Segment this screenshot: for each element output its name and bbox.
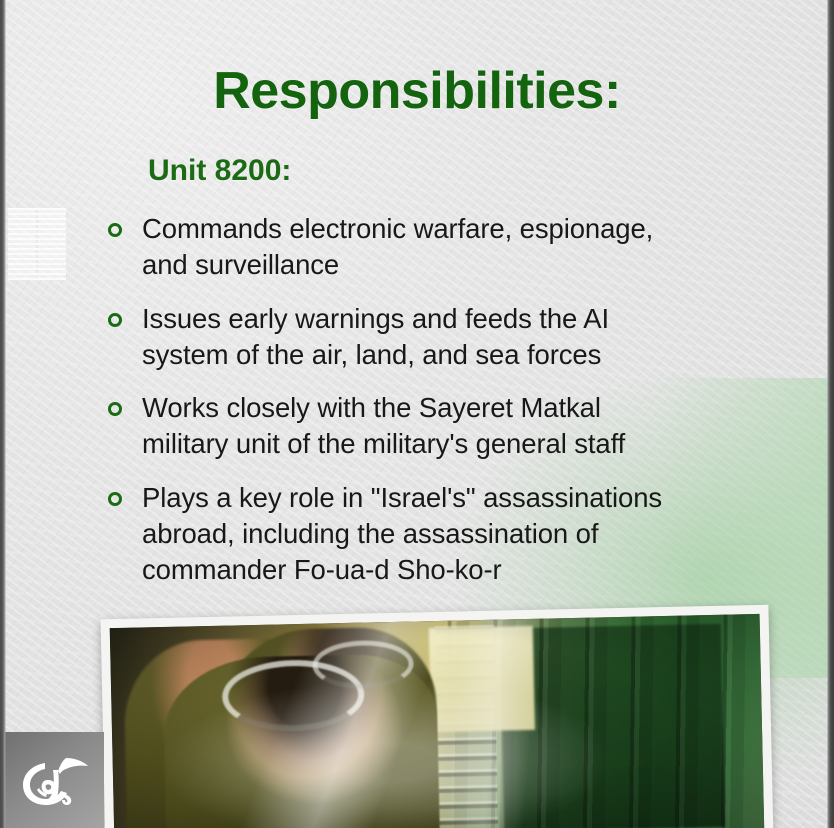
right-edge-strip <box>827 0 834 828</box>
list-item-label: Issues early warnings and feeds the AI s… <box>142 301 798 374</box>
control-room-photo-image <box>110 614 765 828</box>
control-room-photo <box>101 605 774 828</box>
al-mayadeen-logo <box>14 750 90 814</box>
page-title: Responsibilities: <box>0 61 834 121</box>
list-item: Issues early warnings and feeds the AI s… <box>108 301 798 374</box>
list-item: Plays a key role in "Israel's" assassina… <box>108 480 798 589</box>
left-edge-strip <box>0 0 6 828</box>
hollow-circle-icon <box>108 402 122 416</box>
list-item: Works closely with the Sayeret Matkal mi… <box>108 390 798 463</box>
responsibilities-list: Commands electronic warfare, espionage, … <box>108 211 798 606</box>
presentation-slide: Responsibilities: Unit 8200: Commands el… <box>0 0 834 828</box>
list-item-label: Plays a key role in "Israel's" assassina… <box>142 480 798 589</box>
photo-layer-vignette <box>110 614 765 828</box>
hollow-circle-icon <box>108 492 122 506</box>
hollow-circle-icon <box>108 223 122 237</box>
list-item-label: Commands electronic warfare, espionage, … <box>142 211 798 284</box>
left-edge-texture-block <box>8 208 66 280</box>
list-item-label: Works closely with the Sayeret Matkal mi… <box>142 390 798 463</box>
hollow-circle-icon <box>108 313 122 327</box>
section-subtitle: Unit 8200: <box>148 154 291 188</box>
list-item: Commands electronic warfare, espionage, … <box>108 211 798 284</box>
